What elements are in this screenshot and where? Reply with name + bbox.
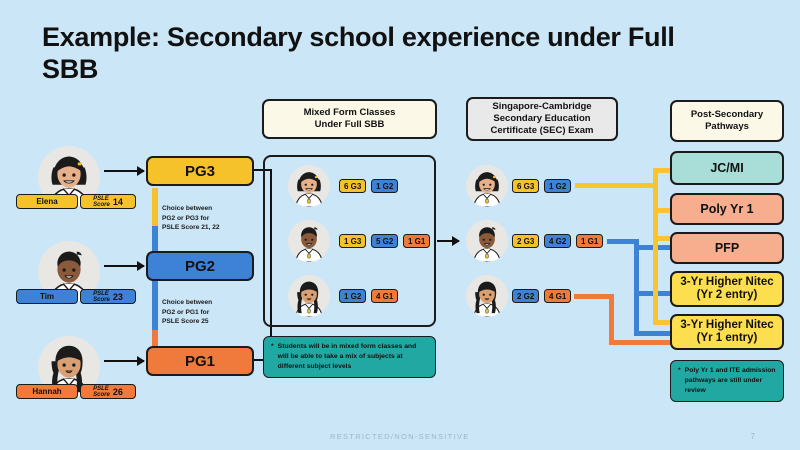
route-blue-to-nitec1 (634, 331, 670, 336)
choice-note-pg3-pg2: Choice between PG2 or PG3 for PSLE Score… (162, 204, 254, 233)
choice-note-2-line2: PG2 or PG1 for (162, 308, 254, 318)
route-yellow-h-in (575, 183, 658, 188)
pathway-pfp[interactable]: PFP (670, 232, 784, 264)
posting-group-pg2[interactable]: PG2 (146, 251, 254, 281)
route-blue-to-pfp (634, 245, 670, 250)
route-yellow-to-pfp (653, 236, 670, 241)
student-score-hannah: PSLE Score 26 (80, 384, 136, 399)
note-mixed-form-text: Students will be in mixed form classes a… (278, 342, 428, 372)
pathway-jc-mi[interactable]: JC/MI (670, 151, 784, 185)
header-mixed-form-line2: Under Full SBB (304, 119, 396, 131)
posting-group-pg1[interactable]: PG1 (146, 346, 254, 376)
student-name-tim: Tim (16, 289, 78, 304)
header-post-secondary-pathways: Post-Secondary Pathways (670, 100, 784, 142)
subject-tag-sec-hannah-0: 2 G2 (512, 289, 539, 303)
route-orange-v (609, 294, 614, 345)
psle-score-value-tim: 23 (113, 292, 123, 302)
header-mixed-form-line1: Mixed Form Classes (304, 107, 396, 119)
pathway-nitec-yr2-line2: (Yr 2 entry) (680, 289, 773, 302)
route-yellow-to-nitec1 (653, 320, 670, 325)
route-yellow-to-jcmi (653, 168, 670, 173)
subject-tag-mixed-elena-0: 6 G3 (339, 179, 366, 193)
avatar-hannah-sec (466, 275, 508, 317)
psle-label-line2: Score (93, 202, 110, 208)
arrow-elena-to-pg3 (104, 170, 144, 172)
subject-tag-sec-tim-1: 4 G2 (544, 234, 571, 248)
arrow-tim-to-pg2 (104, 265, 144, 267)
subject-tag-sec-tim-0: 2 G3 (512, 234, 539, 248)
header-sec-exam-line3: Certificate (SEC) Exam (491, 125, 594, 137)
arrow-hannah-to-pg1 (104, 360, 144, 362)
choice-note-2-line3: PSLE Score 25 (162, 317, 254, 327)
pathway-nitec-yr2-line1: 3-Yr Higher Nitec (680, 276, 773, 289)
choice-note-2-line1: Choice between (162, 298, 254, 308)
subject-tag-mixed-elena-1: 1 G2 (371, 179, 398, 193)
avatar-tim-mixed (288, 220, 330, 262)
pathway-nitec-yr1-line2: (Yr 1 entry) (680, 332, 773, 345)
route-yellow-to-poly (653, 208, 670, 213)
page-title: Example: Secondary school experience und… (42, 22, 722, 86)
page-number: 7 (751, 432, 755, 441)
subject-tag-mixed-tim-0: 1 G3 (339, 234, 366, 248)
subject-tag-sec-elena-1: 1 G2 (544, 179, 571, 193)
header-pathways-line2: Pathways (691, 121, 763, 133)
psle-label-line2: Score (93, 297, 110, 303)
choice-note-1-line2: PG2 or PG3 for (162, 214, 254, 224)
subject-tag-sec-tim-2: 1 G1 (576, 234, 603, 248)
header-pathways-line1: Post-Secondary (691, 109, 763, 121)
pathway-poly-yr-1[interactable]: Poly Yr 1 (670, 193, 784, 225)
header-sec-exam-line2: Secondary Education (491, 113, 594, 125)
psle-score-value-hannah: 26 (113, 387, 123, 397)
avatar-elena-mixed (288, 165, 330, 207)
pathway-nitec-yr2[interactable]: 3-Yr Higher Nitec (Yr 2 entry) (670, 271, 784, 307)
psle-label-line1: PSLE (93, 291, 110, 297)
student-score-tim: PSLE Score 23 (80, 289, 136, 304)
footer-classification: RESTRICTED/NON-SENSITIVE (330, 432, 470, 441)
header-sec-exam: Singapore-Cambridge Secondary Education … (466, 97, 618, 141)
avatar-tim-sec (466, 220, 508, 262)
avatar-hannah-mixed (288, 275, 330, 317)
note-star-icon: * (678, 366, 681, 396)
route-blue-v (634, 239, 639, 336)
avatar-elena-sec (466, 165, 508, 207)
route-blue-to-nitec2 (634, 291, 670, 296)
psle-label-line2: Score (93, 392, 110, 398)
pathway-nitec-yr1[interactable]: 3-Yr Higher Nitec (Yr 1 entry) (670, 314, 784, 350)
subject-tag-mixed-hannah-0: 1 G2 (339, 289, 366, 303)
route-yellow-v (653, 168, 658, 325)
subject-tag-sec-hannah-1: 4 G1 (544, 289, 571, 303)
header-mixed-form-classes: Mixed Form Classes Under Full SBB (262, 99, 437, 139)
slide-canvas: Example: Secondary school experience und… (0, 0, 800, 450)
choice-note-1-line1: Choice between (162, 204, 254, 214)
route-orange-h2 (609, 340, 670, 345)
subject-tag-mixed-hannah-1: 4 G1 (371, 289, 398, 303)
arrow-mixed-to-sec (437, 240, 459, 242)
choice-note-1-line3: PSLE Score 21, 22 (162, 223, 254, 233)
route-orange-h1 (574, 294, 614, 299)
pathway-nitec-yr1-line1: 3-Yr Higher Nitec (680, 319, 773, 332)
subject-tag-mixed-tim-2: 1 G1 (403, 234, 430, 248)
note-pathways-text: Poly Yr 1 and ITE admission pathways are… (685, 366, 776, 396)
note-pathways: * Poly Yr 1 and ITE admission pathways a… (670, 360, 784, 402)
psle-label-line1: PSLE (93, 196, 110, 202)
posting-group-pg3[interactable]: PG3 (146, 156, 254, 186)
subject-tag-sec-elena-0: 6 G3 (512, 179, 539, 193)
note-star-icon: * (271, 342, 274, 372)
header-sec-exam-line1: Singapore-Cambridge (491, 101, 594, 113)
student-name-elena: Elena (16, 194, 78, 209)
psle-label-line1: PSLE (93, 386, 110, 392)
psle-score-value-elena: 14 (113, 197, 123, 207)
student-name-hannah: Hannah (16, 384, 78, 399)
choice-note-pg2-pg1: Choice between PG2 or PG1 for PSLE Score… (162, 298, 254, 327)
note-mixed-form: * Students will be in mixed form classes… (263, 336, 436, 378)
subject-tag-mixed-tim-1: 5 G2 (371, 234, 398, 248)
student-score-elena: PSLE Score 14 (80, 194, 136, 209)
